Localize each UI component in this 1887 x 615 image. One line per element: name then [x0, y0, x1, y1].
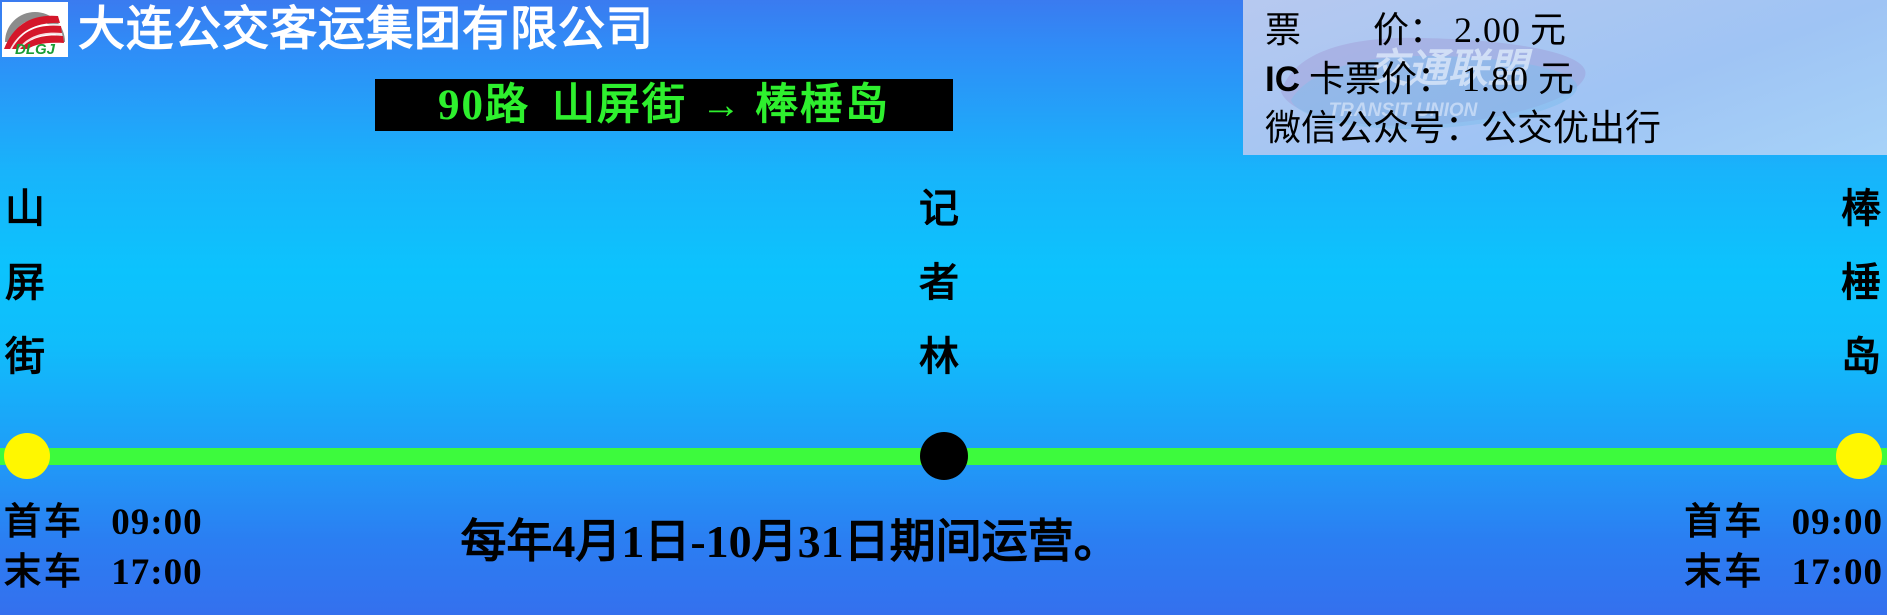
last-bus-row-left: 末车 17:00 — [4, 548, 334, 598]
first-bus-label-right: 首车 — [1684, 502, 1764, 543]
ic-fare-colon: 卡票价： — [1309, 59, 1453, 99]
first-bus-row-right: 首车 09:00 — [1553, 498, 1883, 548]
stop-marker-start — [4, 433, 50, 479]
ic-fare-unit: 元 — [1538, 59, 1574, 99]
arrow-right-icon: → — [687, 85, 755, 125]
cash-fare-value: 2.00 — [1454, 10, 1521, 50]
bus-route-board: DLGJ 大连公交客运集团有限公司 90路 山屏街 → 棒棰岛 交通联盟 TRA… — [0, 0, 1887, 615]
first-bus-time-left: 09:00 — [93, 502, 202, 543]
station-start-char-2: 屏 — [2, 246, 48, 320]
first-bus-row-left: 首车 09:00 — [4, 498, 334, 548]
station-label-end: 棒 棰 岛 — [1838, 172, 1884, 394]
company-logo-icon: DLGJ — [2, 2, 68, 57]
fare-info-box: 交通联盟 TRANSIT UNION 票 价： 2.00 元 IC 卡票价： 1… — [1243, 0, 1887, 155]
station-middle-char-3: 林 — [916, 320, 962, 394]
station-start-char-1: 山 — [2, 172, 48, 246]
station-start-char-3: 街 — [2, 320, 48, 394]
ic-fare-row: IC 卡票价： 1.80 元 — [1265, 55, 1871, 104]
last-bus-label-left: 末车 — [4, 552, 84, 593]
route-destination-sign: 90路 山屏街 → 棒棰岛 — [375, 79, 953, 131]
station-end-char-2: 棰 — [1838, 246, 1884, 320]
cash-fare-label: 票 — [1265, 10, 1301, 50]
route-destination: 棒棰岛 — [755, 84, 890, 127]
cash-fare-unit: 元 — [1530, 10, 1566, 50]
station-middle-char-1: 记 — [916, 172, 962, 246]
logo-text: DLGJ — [15, 41, 56, 57]
stop-marker-middle — [920, 432, 968, 480]
station-label-start: 山 屏 街 — [2, 172, 48, 394]
route-number: 90路 — [438, 84, 530, 127]
last-bus-time-right: 17:00 — [1774, 552, 1883, 593]
last-bus-row-right: 末车 17:00 — [1553, 548, 1883, 598]
ic-card-label: IC — [1265, 60, 1300, 99]
first-bus-label-left: 首车 — [4, 502, 84, 543]
station-middle-char-2: 者 — [916, 246, 962, 320]
station-end-char-3: 岛 — [1838, 320, 1884, 394]
station-end-char-1: 棒 — [1838, 172, 1884, 246]
fare-lines: 票 价： 2.00 元 IC 卡票价： 1.80 元 微信公众号：公交优出行 — [1243, 0, 1887, 155]
last-bus-time-left: 17:00 — [93, 552, 202, 593]
route-origin: 山屏街 — [552, 84, 687, 127]
company-name: 大连公交客运集团有限公司 — [78, 0, 654, 60]
cash-fare-row: 票 价： 2.00 元 — [1265, 6, 1871, 55]
last-bus-label-right: 末车 — [1684, 552, 1764, 593]
schedule-end-station: 首车 09:00 末车 17:00 — [1553, 498, 1883, 598]
cash-fare-colon: 价： — [1373, 10, 1445, 50]
station-label-middle: 记 者 林 — [916, 172, 962, 394]
stop-marker-end — [1836, 433, 1882, 479]
operating-period-notice: 每年4月1日-10月31日期间运营。 — [330, 505, 1250, 571]
schedule-start-station: 首车 09:00 末车 17:00 — [4, 498, 334, 598]
ic-fare-value: 1.80 — [1462, 59, 1529, 99]
wechat-account-row: 微信公众号：公交优出行 — [1265, 104, 1871, 153]
first-bus-time-right: 09:00 — [1774, 502, 1883, 543]
